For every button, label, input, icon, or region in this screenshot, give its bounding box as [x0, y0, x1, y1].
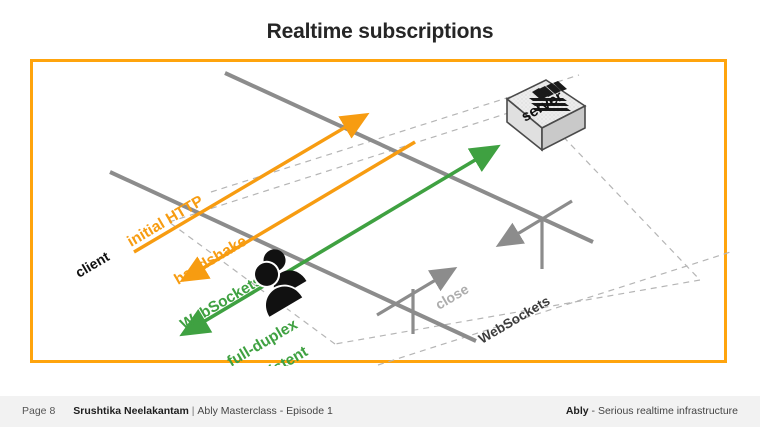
websocket-sequence-diagram: initial HTTP handshake WebSockets full-d… — [33, 62, 730, 366]
plane-boundary-dashed — [169, 105, 700, 344]
label-websockets-caption: WebSockets — [476, 293, 553, 347]
page-number: Page 8 — [22, 405, 55, 417]
label-initial-http: initial HTTP — [124, 193, 206, 251]
label-client: client — [72, 248, 112, 281]
content-frame: initial HTTP handshake WebSockets full-d… — [30, 59, 727, 363]
label-handshake: handshake — [171, 233, 250, 289]
author-name: Srushtika Neelakantam — [73, 405, 189, 417]
lifeline-client — [110, 172, 476, 341]
label-group-handshake: initial HTTP handshake — [124, 193, 250, 289]
server-box-icon — [507, 80, 585, 150]
label-close: close — [432, 281, 471, 313]
footer-left: Page 8Srushtika Neelakantam | Ably Maste… — [22, 405, 333, 417]
brand-tagline: - Serious realtime infrastructure — [592, 405, 738, 417]
brand-name: Ably — [566, 405, 589, 417]
footer-right: Ably - Serious realtime infrastructure — [566, 405, 738, 417]
course-name: Ably Masterclass - Episode 1 — [197, 405, 332, 417]
page-title: Realtime subscriptions — [0, 20, 760, 44]
